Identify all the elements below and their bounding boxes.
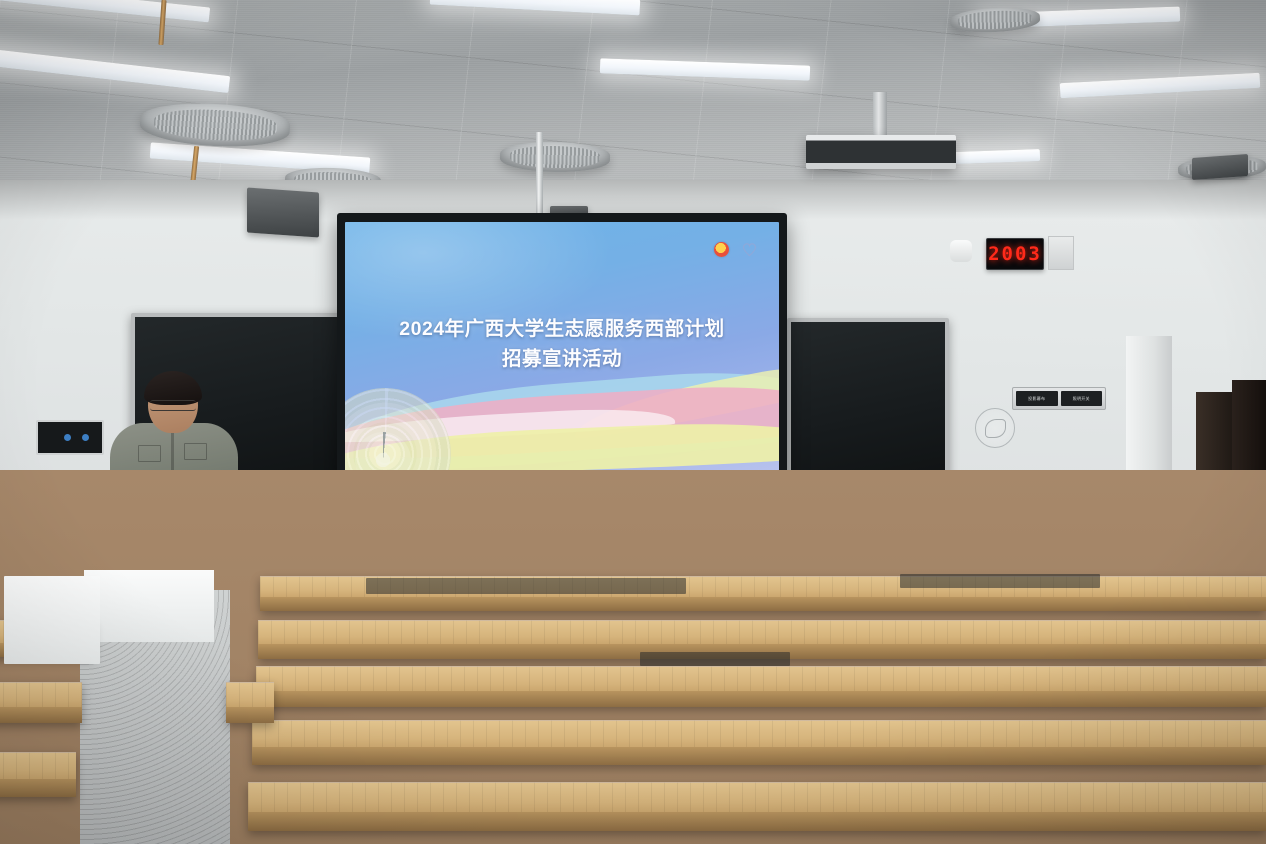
wall-switch-left-label: 投影幕布: [1028, 396, 1045, 402]
control-panel-button[interactable]: [64, 434, 71, 441]
wall-switch-right-label: 照明开关: [1073, 396, 1090, 402]
wall-panel-right: [1048, 236, 1074, 270]
wall-switch-plate[interactable]: 投影幕布 照明开关: [1012, 387, 1106, 410]
wall-smoke-detector: [950, 240, 972, 262]
wall-switch-left[interactable]: 投影幕布: [1016, 391, 1058, 406]
projector-mount: [873, 92, 887, 138]
wall-speaker-far-right: [1192, 154, 1248, 180]
wall-control-panel[interactable]: [36, 420, 104, 455]
slide-title-line1: 2024年广西大学生志愿服务西部计划: [345, 312, 779, 341]
wall-speaker-left: [247, 187, 319, 237]
chalkboard-right: [787, 318, 949, 482]
digital-clock: 2003: [986, 238, 1044, 270]
bench-row-left: [0, 682, 82, 723]
ceiling-projector: [806, 135, 956, 169]
aisle-wall-panel: [4, 576, 100, 664]
wall-switch-right[interactable]: 照明开关: [1061, 391, 1103, 406]
bench-row-left: [0, 752, 76, 797]
presentation-screen[interactable]: 2024年广西大学生志愿服务西部计划 招募宣讲活动: [337, 213, 787, 485]
bench-row: [248, 782, 1266, 831]
slide-content: 2024年广西大学生志愿服务西部计划 招募宣讲活动: [345, 222, 779, 476]
bench-front-panel: [0, 779, 76, 797]
bench-front-panel: [226, 707, 274, 723]
shirt-pocket-left: [138, 445, 161, 462]
bench-front-panel: [252, 747, 1266, 765]
clock-digits: 2003: [988, 243, 1042, 265]
bench-front-panel: [0, 707, 82, 723]
desk-surface-shadow: [366, 578, 686, 594]
bench-front-panel: [248, 812, 1266, 831]
bench-front-panel: [260, 597, 1266, 611]
presenter-glasses-icon: [150, 400, 196, 411]
university-crest-icon: [975, 408, 1015, 448]
bench-row-left: [226, 682, 274, 723]
desk-surface-shadow: [640, 652, 790, 666]
slide-title-line2: 招募宣讲活动: [345, 342, 779, 371]
lecture-hall-photo: 2024年广西大学生志愿服务西部计划 招募宣讲活动 2003 投影幕布 照明开关: [0, 0, 1266, 844]
bench-front-panel: [256, 691, 1266, 707]
bench-row: [256, 666, 1266, 707]
shirt-pocket-right: [184, 443, 207, 460]
youth-league-emblem-icon: [714, 242, 729, 257]
heart-outline-icon: [741, 242, 758, 257]
whiteboard-base: [84, 570, 214, 642]
audience-seating-area: [0, 470, 1266, 844]
control-panel-button[interactable]: [82, 434, 89, 441]
bench-row: [252, 720, 1266, 765]
desk-surface-shadow: [900, 574, 1100, 588]
